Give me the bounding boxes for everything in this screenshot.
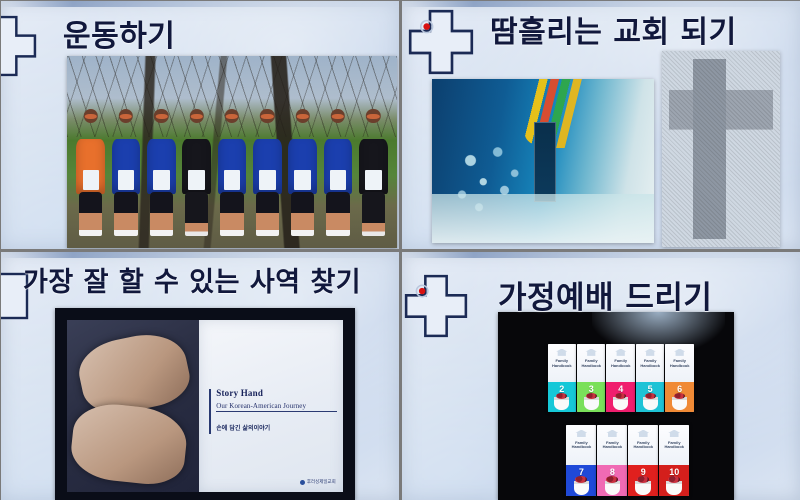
runners-group	[74, 106, 391, 244]
house-icon	[575, 430, 587, 438]
handbook-label: Family Handbook	[662, 441, 686, 450]
handbook-label: Family Handbook	[580, 359, 603, 368]
slide-title: 가장 잘 할 수 있는 사역 찾기	[23, 260, 361, 299]
group-runners-photo	[67, 56, 397, 248]
handbook-row-top: Family Handbook 2 Family Handbook 3 Fami…	[548, 344, 694, 412]
red-dot-icon	[419, 288, 425, 294]
handbook-item: Family Handbook 4	[606, 344, 634, 412]
runner	[74, 106, 108, 244]
story-hand-book-photo: Story Hand Our Korean-American Journey 손…	[55, 308, 355, 500]
bowl-graphic	[554, 397, 569, 411]
bowl-graphic	[672, 397, 687, 411]
cross-icon	[1, 15, 37, 77]
runner	[356, 106, 390, 244]
book-publisher: 후러싱제일교회	[300, 479, 336, 485]
hand	[69, 400, 190, 487]
slide-top-stripe	[1, 1, 399, 7]
handbook-row-bottom: Family Handbook 7 Family Handbook 8 Fami…	[566, 425, 689, 496]
corridor-door	[534, 122, 556, 203]
handbook-label: Family Handbook	[639, 359, 662, 368]
slide-find-ministry[interactable]: 가장 잘 할 수 있는 사역 찾기 Story Hand Our Korean-…	[1, 252, 399, 500]
runner	[180, 106, 214, 244]
slide-title: 운동하기	[63, 11, 175, 55]
runner	[321, 106, 355, 244]
bowl-graphic	[584, 397, 599, 411]
runner	[285, 106, 319, 244]
runner	[250, 106, 284, 244]
house-icon	[556, 349, 567, 356]
handbook-label: Family Handbook	[609, 359, 632, 368]
slide-sweating-church[interactable]: 땀흘리는 교회 되기	[402, 1, 800, 249]
corridor-floor	[432, 194, 654, 243]
handbook-item: Family Handbook 10	[659, 425, 689, 496]
slide-family-worship[interactable]: 가정예배 드리기 Family Handbook 2 Family Handbo…	[402, 252, 800, 500]
handbook-number: 9	[628, 467, 658, 477]
family-handbooks-photo: Family Handbook 2 Family Handbook 3 Fami…	[498, 312, 734, 500]
handbook-item: Family Handbook 5	[636, 344, 664, 412]
book-subtitle: Our Korean-American Journey	[216, 402, 337, 412]
house-icon	[637, 430, 649, 438]
slide-exercise[interactable]: 운동하기	[1, 1, 399, 249]
cross-icon	[408, 9, 474, 75]
runner	[144, 106, 178, 244]
runner	[109, 106, 143, 244]
hands-photograph	[67, 320, 199, 493]
bowl-graphic	[613, 397, 628, 411]
house-icon	[668, 430, 680, 438]
slide-title: 가정예배 드리기	[498, 272, 712, 317]
handbook-label: Family Handbook	[550, 359, 573, 368]
handbook-item: Family Handbook 3	[577, 344, 605, 412]
book-title: Story Hand	[216, 389, 336, 398]
publisher-mark-icon	[300, 480, 305, 485]
book-korean-subtitle: 손에 담긴 삶의이야기	[216, 423, 270, 432]
cover-rule	[209, 389, 211, 434]
bowl-graphic	[666, 481, 682, 495]
handbook-label: Family Handbook	[569, 441, 593, 450]
slide-title: 땀흘리는 교회 되기	[490, 7, 737, 51]
book-cover: Story Hand Our Korean-American Journey 손…	[199, 320, 343, 493]
photo-grain	[662, 51, 780, 247]
runner	[215, 106, 249, 244]
corridor-mural-photo	[432, 79, 654, 243]
publisher-name: 후러싱제일교회	[307, 479, 336, 485]
handbook-label: Family Handbook	[668, 359, 691, 368]
bowl-graphic	[635, 481, 651, 495]
handbook-number: 7	[566, 467, 596, 477]
house-icon	[615, 349, 626, 356]
house-icon	[674, 349, 685, 356]
handbook-item: Family Handbook 6	[665, 344, 693, 412]
slide-top-stripe	[402, 252, 800, 258]
bowl-graphic	[574, 481, 590, 495]
slide-top-stripe	[1, 252, 399, 258]
handbook-number: 8	[597, 467, 627, 477]
handbook-item: Family Handbook 7	[566, 425, 596, 496]
handbook-label: Family Handbook	[600, 441, 624, 450]
handbook-item: Family Handbook 8	[597, 425, 627, 496]
house-icon	[586, 349, 597, 356]
house-icon	[645, 349, 656, 356]
slide-grid: 운동하기	[0, 0, 800, 500]
handbook-item: Family Handbook 2	[548, 344, 576, 412]
handbook-number: 10	[659, 467, 689, 477]
cross-icon	[404, 274, 468, 338]
handbook-label: Family Handbook	[631, 441, 655, 450]
handbook-item: Family Handbook 9	[628, 425, 658, 496]
house-icon	[606, 430, 618, 438]
red-dot-icon	[423, 23, 430, 30]
cross-collage-photo	[662, 51, 780, 247]
bowl-graphic	[605, 481, 621, 495]
bowl-graphic	[643, 397, 658, 411]
